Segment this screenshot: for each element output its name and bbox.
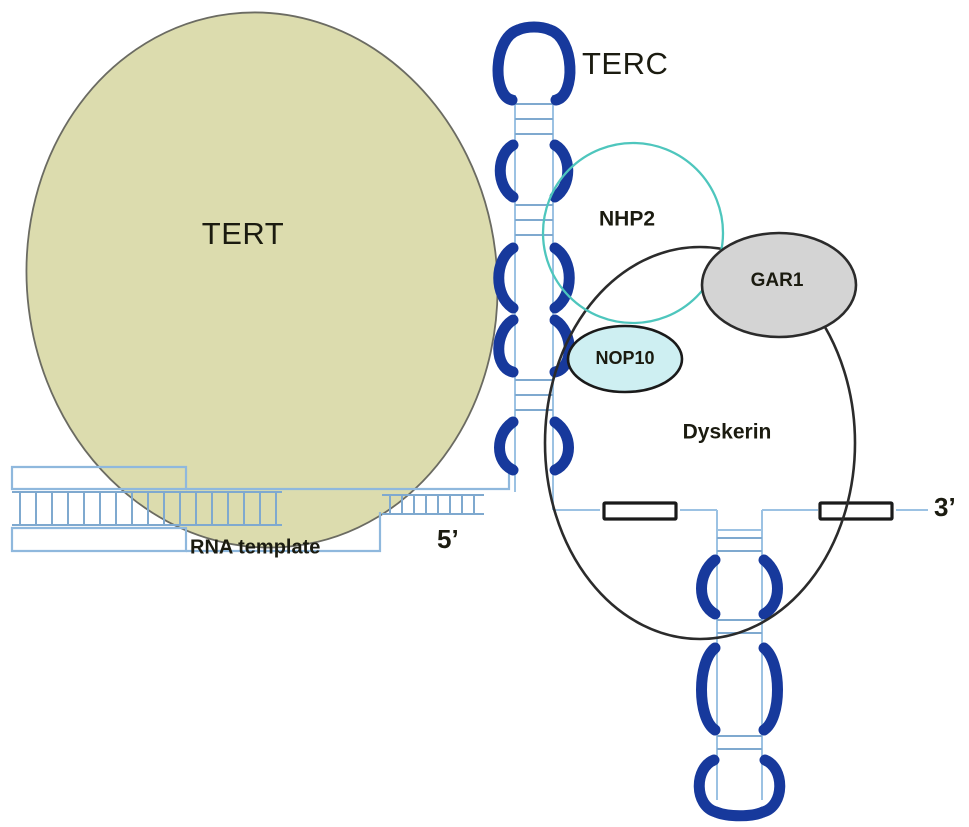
terc-bulge-loop-e xyxy=(702,560,778,614)
terc-label: TERC xyxy=(582,46,668,81)
haca-rna-line: 3’ xyxy=(583,492,956,530)
three-prime-label: 3’ xyxy=(934,492,956,522)
haca-hinge xyxy=(717,510,762,530)
h-box-motif xyxy=(604,503,676,519)
terc-bulge-loop-f xyxy=(702,648,778,730)
tert-label: TERT xyxy=(202,216,284,251)
aca-box-motif xyxy=(820,503,892,519)
dyskerin-label: Dyskerin xyxy=(683,421,772,444)
terc-lower-stem xyxy=(699,530,780,816)
gar1-subunit[interactable]: GAR1 xyxy=(702,233,856,337)
terc-terminal-loop-bottom xyxy=(699,760,780,816)
rna-template-lower-strand xyxy=(12,528,186,551)
terc-bulge-loop-a xyxy=(500,145,568,197)
gar1-label: GAR1 xyxy=(751,270,804,291)
base-pair-ticks-right xyxy=(390,495,474,514)
five-prime-label: 5’ xyxy=(437,524,459,554)
nhp2-circle-shape xyxy=(543,143,723,323)
nop10-label: NOP10 xyxy=(595,348,654,368)
diagram-canvas: TERT xyxy=(0,0,969,827)
terc-bulge-loop-d xyxy=(500,422,569,470)
telomerase-diagram: TERT xyxy=(0,0,969,827)
nop10-subunit[interactable]: NOP10 xyxy=(568,326,682,392)
nhp2-subunit[interactable]: NHP2 xyxy=(543,143,723,323)
nhp2-label: NHP2 xyxy=(599,208,655,231)
terc-loops-upper xyxy=(498,27,570,470)
terc-bulge-loop-b xyxy=(499,248,570,308)
terc-terminal-loop-top xyxy=(498,27,570,100)
rna-template-label: RNA template xyxy=(190,536,320,558)
